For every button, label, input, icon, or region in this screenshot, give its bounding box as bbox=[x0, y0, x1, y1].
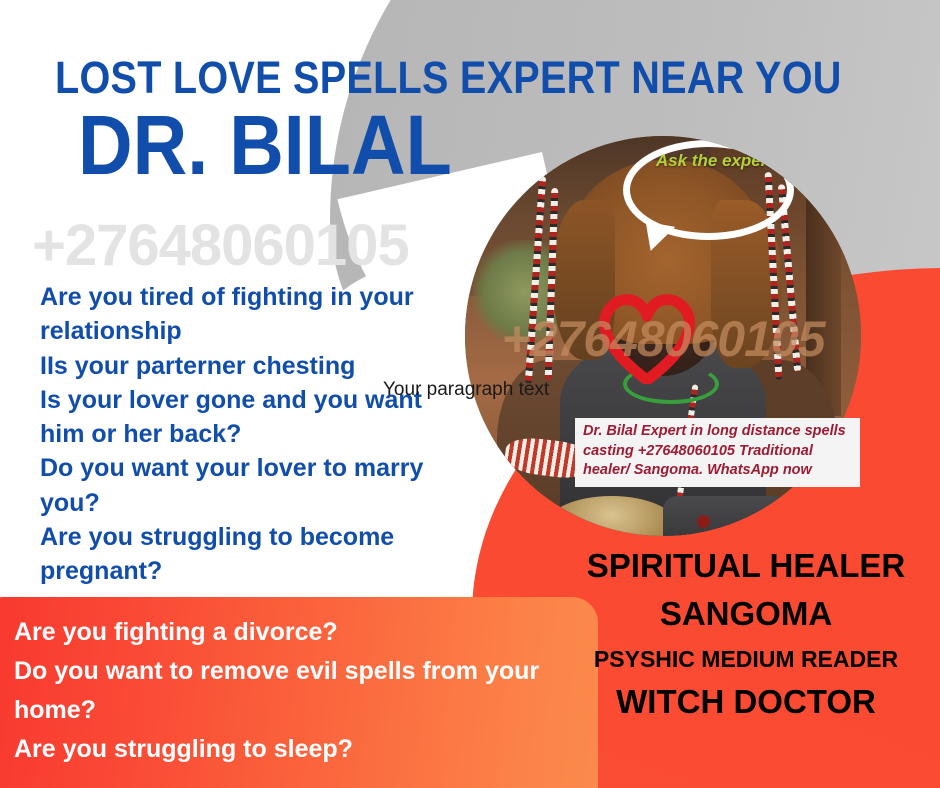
list-item: Are you tired of fighting in your relati… bbox=[40, 280, 470, 349]
service-item: WITCH DOCTOR bbox=[552, 684, 940, 720]
healer-name: DR. BILAL bbox=[78, 103, 452, 187]
speech-bubble-tail-icon bbox=[641, 222, 675, 255]
speech-bubble-label: Ask the expert bbox=[647, 150, 782, 173]
service-item: SANGOMA bbox=[552, 596, 940, 632]
paragraph-placeholder-text: Your paragraph text bbox=[383, 379, 549, 401]
services-list: SPIRITUAL HEALER SANGOMA PSYSHIC MEDIUM … bbox=[552, 548, 940, 720]
list-item: Do you want to remove evil spells from y… bbox=[14, 652, 574, 730]
phone-number-large: +27648060105 bbox=[32, 212, 409, 279]
page-title: LOST LOVE SPELLS EXPERT NEAR YOU bbox=[55, 52, 842, 104]
list-item: Do you want your lover to marry you? bbox=[40, 451, 470, 520]
white-question-list: Are you fighting a divorce? Do you want … bbox=[14, 613, 574, 769]
photo-caption-strip: Dr. Bilal Expert in long distance spells… bbox=[575, 418, 860, 487]
blue-question-list: Are you tired of fighting in your relati… bbox=[40, 280, 470, 588]
list-item: IIs your parterner chesting bbox=[40, 349, 470, 383]
list-item: Are you fighting a divorce? bbox=[14, 613, 574, 652]
service-item: SPIRITUAL HEALER bbox=[552, 548, 940, 584]
service-item: PSYSHIC MEDIUM READER bbox=[552, 647, 940, 672]
list-item: Are you struggling to become pregnant? bbox=[40, 520, 470, 589]
phone-watermark-on-photo: +27648060105 bbox=[465, 310, 861, 368]
list-item: Are you struggling to sleep? bbox=[14, 730, 574, 769]
poster-canvas: Ask the expert +27648060105 Dr. Bilal Ex… bbox=[0, 0, 940, 788]
